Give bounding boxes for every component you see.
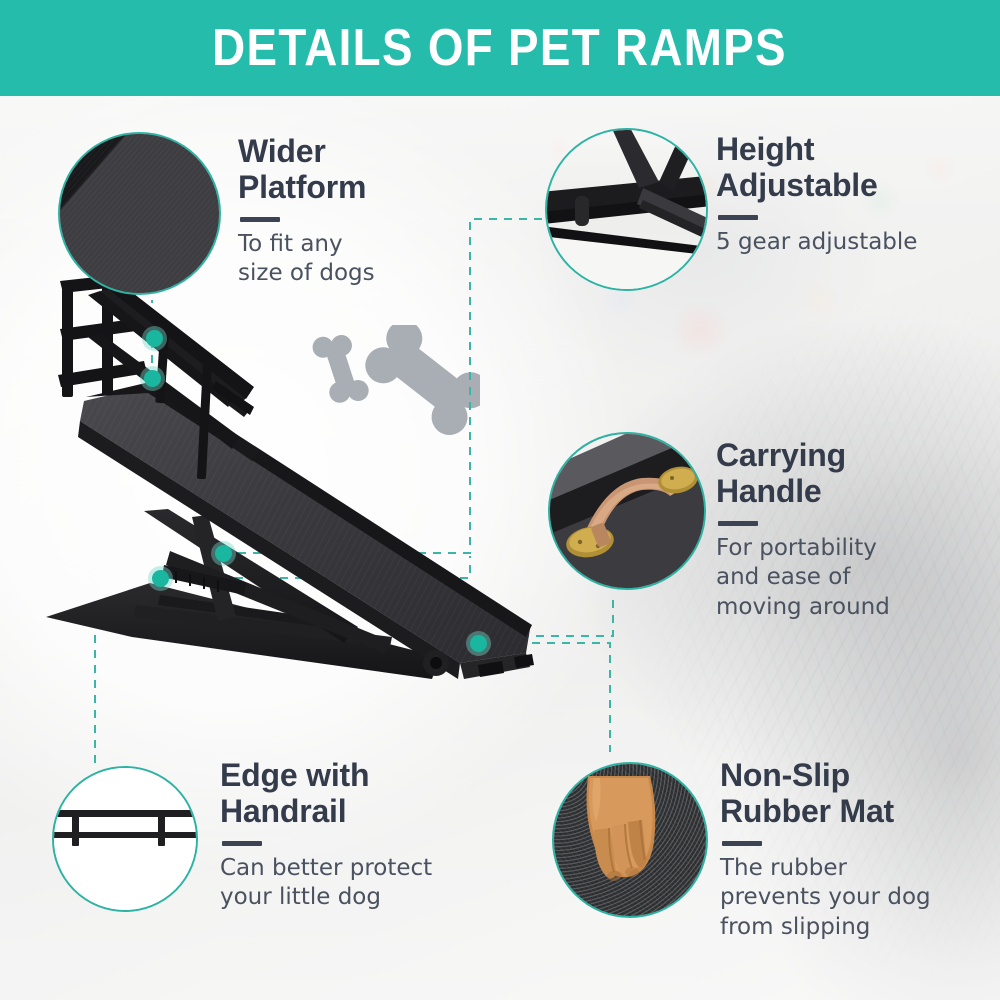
infographic-page: DETAILS OF PET RAMPS: [0, 0, 1000, 1000]
callout-divider: [718, 215, 758, 220]
rubber-mat-inset: [552, 762, 708, 918]
anchor-dot-height: [215, 545, 232, 562]
callout-title: Edge with Handrail: [220, 758, 490, 830]
carry-handle-inset: [548, 432, 706, 590]
callout-rubber-mat: Non-Slip Rubber Mat The rubber prevents …: [720, 758, 982, 942]
callout-description: Can better protect your little dog: [220, 854, 490, 913]
handrail-art: [54, 768, 198, 912]
callout-divider: [718, 521, 758, 526]
callout-description: For portability and ease of moving aroun…: [716, 534, 971, 622]
callout-edge-handrail: Edge with Handrail Can better protect yo…: [220, 758, 490, 913]
anchor-dot-rail: [146, 330, 163, 347]
callout-title: Carrying Handle: [716, 438, 971, 510]
handrail-inset: [52, 766, 198, 912]
platform-closeup-inset: [58, 132, 221, 295]
callout-height-adjustable: Height Adjustable 5 gear adjustable: [716, 132, 981, 257]
callout-title: Non-Slip Rubber Mat: [720, 758, 982, 830]
callout-description: To fit any size of dogs: [238, 230, 468, 289]
height-mechanism-inset: [545, 128, 708, 291]
dog-paw-art: [554, 764, 708, 918]
header-banner: DETAILS OF PET RAMPS: [0, 0, 1000, 96]
callout-title: Wider Platform: [238, 134, 468, 206]
callout-carrying-handle: Carrying Handle For portability and ease…: [716, 438, 971, 622]
callout-wider-platform: Wider Platform To fit any size of dogs: [238, 134, 468, 289]
anchor-dot-frame: [152, 570, 169, 587]
dog-paw: [587, 776, 656, 881]
height-mechanism-art: [547, 130, 708, 291]
callout-description: The rubber prevents your dog from slippi…: [720, 854, 982, 942]
callout-divider: [240, 217, 280, 222]
callout-description: 5 gear adjustable: [716, 228, 981, 257]
callout-title: Height Adjustable: [716, 132, 981, 204]
anchor-dot-mat: [470, 635, 487, 652]
carry-handle-art: [550, 434, 706, 590]
page-title: DETAILS OF PET RAMPS: [213, 22, 788, 74]
anchor-dot-platform: [144, 370, 161, 387]
callout-divider: [222, 841, 262, 846]
callout-divider: [722, 841, 762, 846]
